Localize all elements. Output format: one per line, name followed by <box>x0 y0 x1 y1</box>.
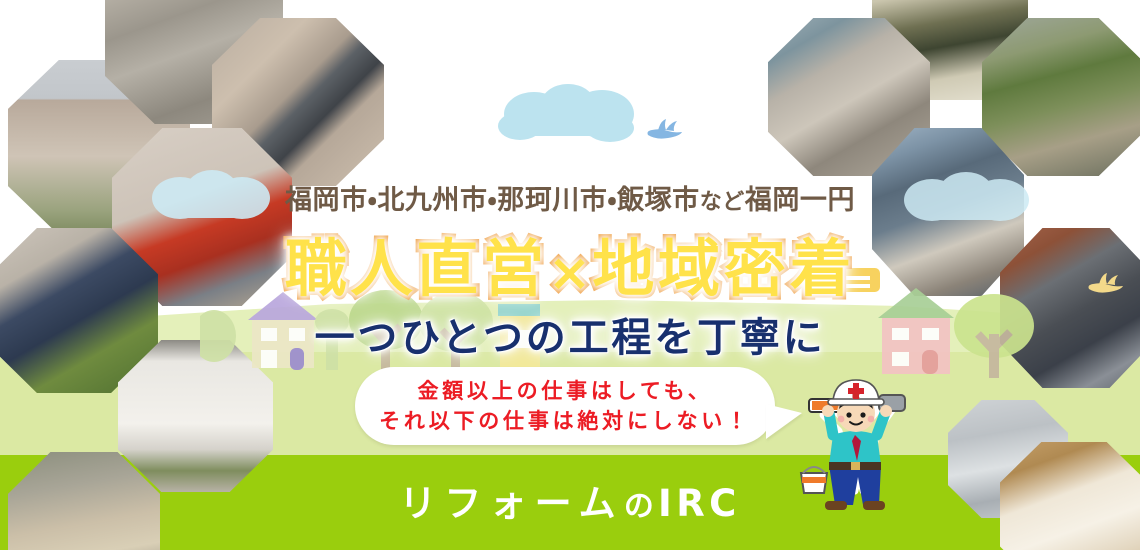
irc-mascot-worker: IRC <box>795 365 915 510</box>
brand-name: リフォームのIRC <box>0 473 1140 527</box>
promise-line-1: 金額以上の仕事はしても、 <box>417 376 712 406</box>
paint-bucket-icon <box>801 467 827 493</box>
headline-left: 職人直営 <box>285 232 548 305</box>
photo-garden <box>982 18 1140 176</box>
hero-banner: 福岡市・北九州市・那珂川市・飯塚市など福岡一円 職人直営×地域密着 一つひとつの… <box>0 0 1140 550</box>
headline-times-symbol: × <box>548 243 593 303</box>
main-headline: 職人直営×地域密着 <box>0 218 1140 308</box>
svg-text:IRC: IRC <box>852 394 861 400</box>
sub-headline: 一つひとつの工程を丁寧に <box>0 305 1140 363</box>
promise-line-2: それ以下の仕事は絶対にしない！ <box>379 406 751 436</box>
bird-icon <box>644 118 684 144</box>
cloud-icon-top <box>490 82 650 144</box>
promise-speech-bubble-text: 金額以上の仕事はしても、 それ以下の仕事は絶対にしない！ <box>355 367 775 445</box>
brand-irc: IRC <box>658 482 741 525</box>
service-area-region: 福岡一円 <box>745 185 855 216</box>
service-area-line: 福岡市・北九州市・那珂川市・飯塚市など福岡一円 <box>0 178 1140 217</box>
service-area-suffix: など <box>700 190 745 215</box>
headline-right: 地域密着 <box>592 232 855 305</box>
hard-hat-icon: IRC <box>828 380 884 405</box>
service-area-cities: 福岡市・北九州市・那珂川市・飯塚市 <box>285 185 700 216</box>
brand-kana: リフォーム <box>399 482 624 525</box>
brand-no: の <box>624 489 658 524</box>
